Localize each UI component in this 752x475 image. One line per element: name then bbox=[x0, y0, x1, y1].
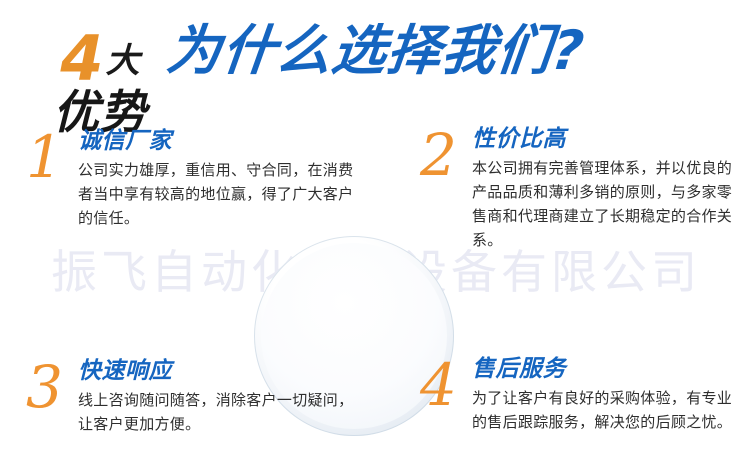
advantage-heading-4: 售后服务 bbox=[472, 356, 738, 382]
advantage-block-3: 3 快速响应 线上咨询随问随答，消除客户一切疑问，让客户更加方便。 bbox=[26, 358, 356, 436]
advantage-heading-2: 性价比高 bbox=[472, 126, 738, 152]
advantage-text-3: 线上咨询随问随答，消除客户一切疑问，让客户更加方便。 bbox=[78, 388, 356, 436]
advantage-heading-3: 快速响应 bbox=[78, 358, 356, 384]
advantage-block-1: 1 诚信厂家 公司实力雄厚，重信用、守合同，在消费者当中享有较高的地位赢，得了广… bbox=[26, 128, 356, 230]
advantage-number-2: 2 bbox=[420, 126, 457, 184]
advantage-block-4: 4 售后服务 为了让客户有良好的采购体验，有专业的售后跟踪服务，解决您的后顾之忧… bbox=[420, 356, 738, 434]
advantage-number-4: 4 bbox=[420, 356, 457, 414]
promo-banner: 振飞自动化机械设备有限公司 为什么选择我们? 4大 优势 1 诚信厂家 公司实力… bbox=[0, 0, 752, 475]
advantage-body-2: 性价比高 本公司拥有完善管理体系，并以优良的产品品质和薄利多销的原则，与多家零售… bbox=[472, 126, 738, 252]
page-title-text: 为什么选择我们? bbox=[164, 22, 587, 80]
advantage-body-4: 售后服务 为了让客户有良好的采购体验，有专业的售后跟踪服务，解决您的后顾之忧。 bbox=[472, 356, 738, 434]
advantage-text-1: 公司实力雄厚，重信用、守合同，在消费者当中享有较高的地位赢，得了广大客户的信任。 bbox=[78, 158, 356, 230]
advantage-number-3: 3 bbox=[26, 358, 63, 416]
advantage-body-3: 快速响应 线上咨询随问随答，消除客户一切疑问，让客户更加方便。 bbox=[78, 358, 356, 436]
advantage-block-2: 2 性价比高 本公司拥有完善管理体系，并以优良的产品品质和薄利多销的原则，与多家… bbox=[420, 126, 738, 252]
advantage-text-2: 本公司拥有完善管理体系，并以优良的产品品质和薄利多销的原则，与多家零售商和代理商… bbox=[472, 156, 738, 252]
page-title: 为什么选择我们? bbox=[0, 22, 752, 80]
advantage-text-4: 为了让客户有良好的采购体验，有专业的售后跟踪服务，解决您的后顾之忧。 bbox=[472, 386, 738, 434]
advantage-body-1: 诚信厂家 公司实力雄厚，重信用、守合同，在消费者当中享有较高的地位赢，得了广大客… bbox=[78, 128, 356, 230]
advantage-number-1: 1 bbox=[26, 128, 63, 186]
advantage-heading-1: 诚信厂家 bbox=[78, 128, 356, 154]
